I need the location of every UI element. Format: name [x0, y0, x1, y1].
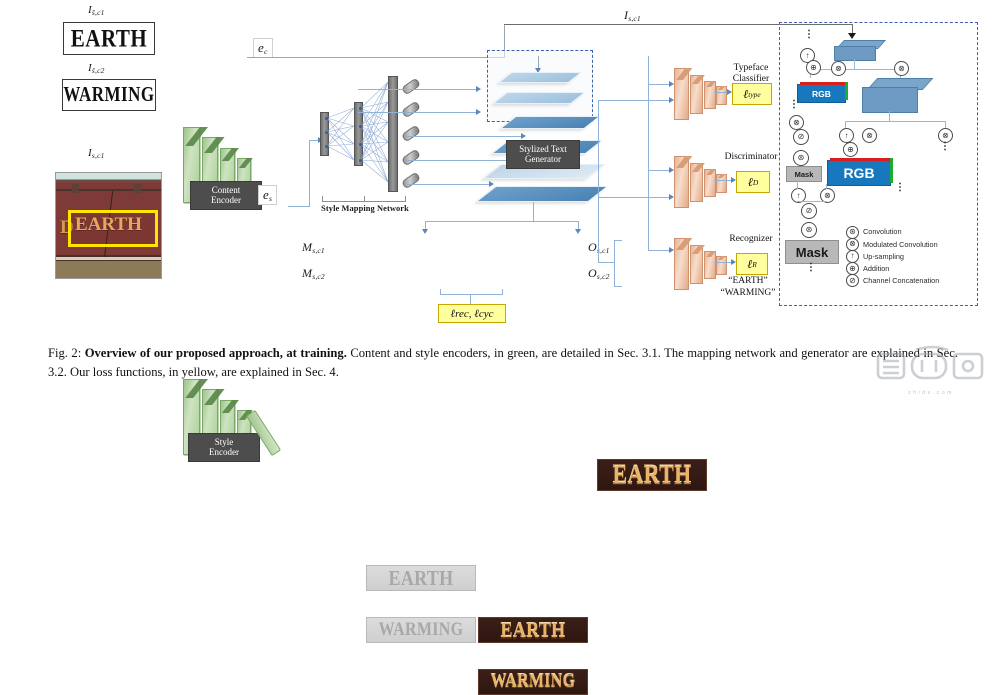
styled-branch-arrow	[575, 229, 581, 234]
mask-2-label: Ms,c2	[302, 266, 325, 281]
generator-line1: Stylized Text	[512, 144, 574, 154]
content-encoder-label: Content Encoder	[190, 181, 262, 210]
module-dots-2: ⋮	[789, 103, 799, 106]
style-encoder-line2: Encoder	[195, 447, 253, 457]
module-cube-mid	[862, 78, 926, 112]
recognizer-prediction-1: “EARTH”	[708, 276, 788, 287]
mask-image-2: WARMING	[366, 617, 476, 643]
generator-slab-top2	[500, 92, 578, 104]
generator-slab-1	[508, 116, 592, 129]
legend-row-upsampling: ↑ Up-sampling	[846, 250, 939, 262]
legend-row-addition: ⊕ Addition	[846, 263, 939, 275]
legend-row-convolution: ⊛ Convolution	[846, 226, 939, 238]
content-image-2: WARMING	[62, 79, 156, 111]
styled-image-2: WARMING	[478, 669, 588, 695]
modulated-conv-op-4: ⊗	[862, 128, 877, 143]
reference-image: EARTH	[597, 459, 707, 491]
content-embedding-label: ec	[253, 38, 273, 58]
typeface-classifier-label: TypefaceClassifier	[716, 63, 786, 84]
content-encoder: Content Encoder	[180, 123, 290, 233]
recognizer-prediction-2: “WARMING”	[708, 288, 788, 299]
channel-concatenation-icon: ⊘	[846, 274, 859, 287]
content-image-1-label: Iŝ,c1	[88, 4, 105, 17]
content-image-2-label: Iŝ,c2	[88, 62, 105, 75]
style-photo-text: EARTH	[75, 214, 142, 236]
addition-op-1: ⊕	[806, 60, 821, 75]
module-input-arrow	[848, 33, 856, 39]
rgb-box-small: RGB	[797, 84, 846, 103]
style-encoder-label: Style Encoder	[188, 433, 260, 462]
mask-branch-arrow	[422, 229, 428, 234]
watermark: zhidx.com	[870, 344, 992, 396]
rgb-box-large: RGB	[827, 160, 891, 186]
recognizer-label: Recognizer	[716, 234, 786, 245]
content-encoder-line2: Encoder	[197, 195, 255, 205]
generated-feed-line	[598, 100, 599, 262]
up-sampling-icon: ↑	[846, 250, 859, 263]
addition-op-2: ⊕	[843, 142, 858, 157]
module-dots-4: ⋮	[895, 186, 905, 189]
generator-detail-dashbox	[487, 50, 593, 122]
convolution-icon: ⊛	[846, 226, 859, 239]
generator-slab-4	[486, 186, 598, 202]
figure-caption: Fig. 2: Overview of our proposed approac…	[48, 344, 958, 382]
discriminator-label: Discriminator	[714, 152, 788, 163]
modulated-conv-op-1: ⊗	[831, 61, 846, 76]
mask-1-label: Ms,c1	[302, 240, 325, 255]
content-image-1: EARTH	[63, 22, 155, 55]
channel-concat-op-1: ⊘	[793, 129, 809, 145]
module-input-line	[504, 24, 853, 25]
figure-caption-bold: Overview of our proposed approach, at tr…	[85, 346, 347, 360]
content-encoder-line1: Content	[197, 185, 255, 195]
style-embedding-riser	[309, 140, 310, 207]
generator-out-riser	[533, 202, 534, 221]
modulated-convolution-icon: ⊗	[846, 238, 859, 251]
modulated-conv-op-3: ⊗	[789, 115, 804, 130]
loss-typeface: ℓtype	[732, 83, 772, 105]
loss-discriminator: ℓD	[736, 171, 770, 193]
figure-number: Fig. 2:	[48, 346, 81, 360]
module-legend: ⊛ Convolution ⊗ Modulated Convolution ↑ …	[846, 226, 939, 287]
channel-concat-op-2: ⊘	[801, 203, 817, 219]
style-image-label: Is,c1	[88, 147, 105, 160]
module-dots-1: ⋮	[804, 33, 814, 36]
legend-row-channel-concatenation: ⊘ Channel Concatenation	[846, 275, 939, 287]
legend-row-modulated-convolution: ⊗ Modulated Convolution	[846, 238, 939, 250]
generator-slab-top1	[505, 72, 575, 83]
style-encoder-line1: Style	[195, 437, 253, 447]
module-dots-3: ⋮	[940, 145, 950, 148]
style-image-photo: D EARTH	[55, 172, 162, 279]
upsample-op-2: ↑	[839, 128, 854, 143]
modulated-conv-op-2: ⊗	[894, 61, 909, 76]
mask-image-1: EARTH	[366, 565, 476, 591]
convolution-op-2: ⊛	[801, 222, 817, 238]
content-embedding-wire	[247, 57, 505, 58]
styled-2-label: Os,c2	[588, 266, 610, 281]
addition-icon: ⊕	[846, 262, 859, 275]
style-encoder: Style Encoder	[180, 369, 290, 481]
mask-box-large: Mask	[785, 240, 839, 264]
convolution-op-1: ⊛	[793, 150, 809, 166]
style-embedding-label: es	[258, 185, 277, 205]
style-mapping-network-label: Style Mapping Network	[310, 204, 420, 213]
figure-canvas: Iŝ,c1 EARTH Iŝ,c2 WARMING Is,c1 D EARTH …	[0, 0, 1000, 400]
mask-box-small: Mask	[786, 166, 822, 182]
loss-rec-cyc: ℓrec, ℓcyc	[438, 304, 506, 323]
watermark-text: zhidx.com	[870, 390, 992, 396]
loss-recognizer: ℓR	[736, 253, 768, 275]
styled-image-1: EARTH	[478, 617, 588, 643]
generator-line2: Generator	[512, 154, 574, 164]
style-embedding-wire	[288, 206, 310, 207]
generator-out-split	[425, 221, 579, 222]
reference-image-label: Is,c1	[624, 8, 641, 23]
generator-label: Stylized Text Generator	[506, 140, 580, 169]
module-cube-top	[834, 40, 880, 60]
module-dots-5: ⋮	[806, 266, 816, 269]
